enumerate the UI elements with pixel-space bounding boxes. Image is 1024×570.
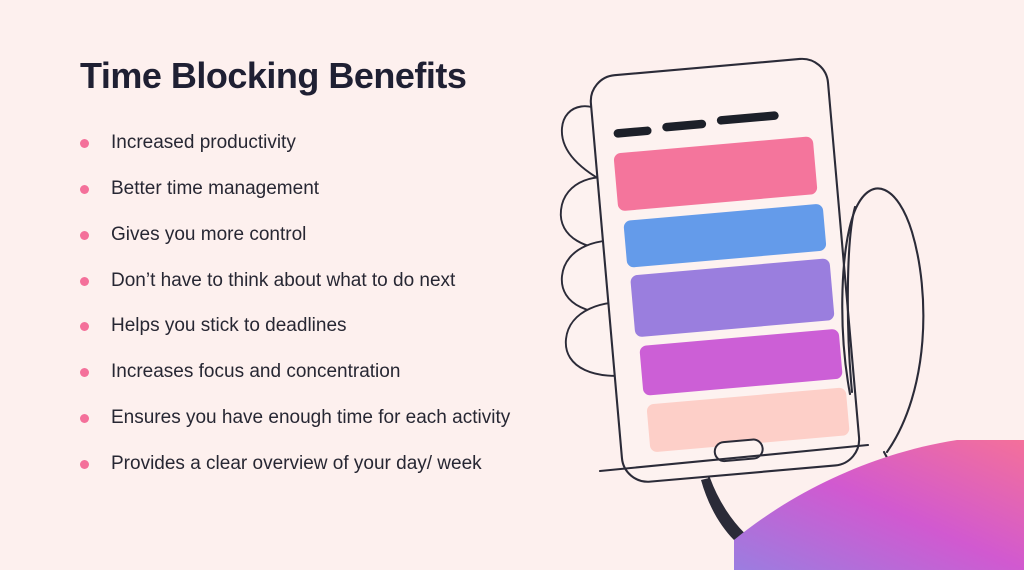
bullet-dot-icon [80,460,89,469]
page-title: Time Blocking Benefits [80,56,580,96]
list-item: Provides a clear overview of your day/ w… [80,451,580,478]
list-item: Ensures you have enough time for each ac… [80,405,580,432]
list-item-label: Increases focus and concentration [111,361,400,382]
slide-canvas: Time Blocking Benefits Increased product… [0,0,1024,570]
benefits-list: Increased productivity Better time manag… [80,130,580,479]
bullet-dot-icon [80,368,89,377]
bullet-dot-icon [80,231,89,240]
bullet-dot-icon [80,185,89,194]
list-item: Better time management [80,176,580,203]
bullet-dot-icon [80,139,89,148]
list-item: Gives you more control [80,222,580,249]
hand-holding-phone-illustration [520,0,1024,570]
list-item-label: Helps you stick to deadlines [111,315,347,336]
list-item-label: Provides a clear overview of your day/ w… [111,453,482,474]
bullet-dot-icon [80,322,89,331]
list-item-label: Don’t have to think about what to do nex… [111,270,455,291]
bullet-dot-icon [80,277,89,286]
pen-tip-icon [701,478,744,540]
list-item-label: Ensures you have enough time for each ac… [111,407,510,428]
list-item-label: Increased productivity [111,132,296,153]
list-item: Increased productivity [80,130,580,157]
list-item-label: Better time management [111,178,319,199]
list-item: Increases focus and concentration [80,359,580,386]
list-item: Helps you stick to deadlines [80,313,580,340]
content-column: Time Blocking Benefits Increased product… [80,56,580,478]
list-item: Don’t have to think about what to do nex… [80,268,580,295]
phone-device [589,57,862,484]
bullet-dot-icon [80,414,89,423]
list-item-label: Gives you more control [111,224,306,245]
